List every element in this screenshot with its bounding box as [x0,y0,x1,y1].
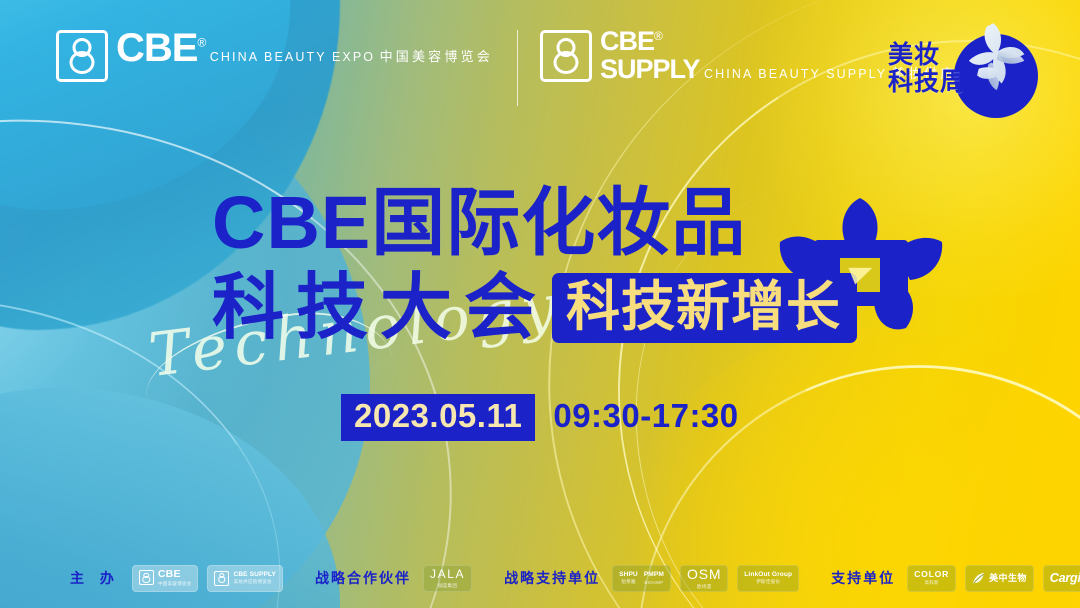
cbe-supply-subtitle-en: CHINA BEAUTY SUPPLY [704,67,887,81]
sponsor-chip-cbe: CBE 中国美容博览会 [132,565,199,592]
sponsor-sub-jala: 伽蓝集团 [438,583,457,589]
sponsor-name-cargill: Cargill [1050,571,1080,585]
sponsor-sub-shpu: 珀莱雅 [621,579,635,585]
sponsor-chip-cargill: Cargill [1043,565,1080,592]
cbe-logo-main-text: CBE [116,26,197,70]
footer-label-strategic-support: 战略支持单位 [504,568,600,588]
cbe-monogram-icon [214,571,229,586]
event-time: 09:30-17:30 [535,394,748,441]
cbe-monogram-icon [139,570,154,585]
footer-label-strategic-partner: 战略合作伙伴 [315,568,411,588]
sponsor-sub-cbe: 中国美容博览会 [158,582,192,587]
beauty-tech-week-badge: 美妆 科技周 [888,16,1044,124]
cbe-logo-subtitle-en: CHINA BEAUTY EXPO [210,50,375,64]
footer-label-organizer: 主 办 [70,568,120,588]
cbe-monogram-icon [56,30,108,82]
sponsor-chip-cbe-supply: CBE SUPPLY 美妆供应链博览会 [207,565,283,592]
cbe-supply-logo-line1: CBE [600,26,654,56]
header-logo-group: CBE® CHINA BEAUTY EXPO 中国美容博览会 CBE®SUPPL… [56,28,1021,106]
cbe-supply-monogram-icon [540,30,592,82]
cbe-logo: CBE® CHINA BEAUTY EXPO 中国美容博览会 [56,28,493,82]
sponsor-name-shpu: SHPU [619,571,638,578]
sponsor-chip-osm: OSM 欧诗漫 [680,565,728,592]
title-slogan-badge: 科技新增长 [552,273,857,343]
sponsor-name-meizhong: 美中生物 [989,574,1027,583]
sponsor-sub-group: 伊斯佳股份 [756,579,780,585]
week-badge-line2: 科技 [888,68,940,96]
cbe-supply-logo-wordmark: CBE®SUPPLY [600,26,700,84]
leaf-icon [972,572,985,585]
sponsor-name-jala: JALA [430,567,465,581]
cbe-conference-banner: CBE® CHINA BEAUTY EXPO 中国美容博览会 CBE®SUPPL… [0,0,1080,608]
cbe-logo-wordmark: CBE® [116,26,205,70]
week-badge-accent: 周 [940,68,966,96]
sponsor-name-group: LinkOut Group [744,571,792,578]
sponsor-chip-jala: JALA 伽蓝集团 [423,565,472,592]
registered-mark-icon: ® [197,36,205,50]
footer-label-support-unit: 支持单位 [831,568,895,588]
sponsor-sub-cbe-supply: 美妆供应链博览会 [233,580,276,585]
sponsor-chip-meizhong: 美中生物 [965,565,1034,592]
event-datetime: 2023.05.11 09:30-17:30 [341,394,749,441]
blue-circle-petal-icon [954,20,1036,108]
sponsor-chip-shpu-pmpm: SHPU 珀莱雅 PMPM BIOAMP [612,565,671,592]
event-date: 2023.05.11 [341,394,535,441]
title-line-2-text: 科技大会 [212,272,548,344]
main-title-block: CBE国际化妆品 科技大会 科技新增长 [212,186,857,344]
sponsor-chip-color: COLOR 高科新 [907,565,956,592]
title-slogan-text: 科技新增长 [566,277,841,337]
sponsor-name-cbe-supply: CBE SUPPLY [233,571,276,578]
registered-mark-icon: ® [654,29,662,43]
sponsor-name-osm: OSM [687,566,721,582]
title-line-1: CBE国际化妆品 [212,186,857,260]
cbe-supply-logo-line2: SUPPLY [600,54,700,84]
sponsor-name-cbe: CBE [158,569,192,580]
title-line-2: 科技大会 科技新增长 [212,272,857,344]
sponsor-name-color: COLOR [914,570,949,579]
week-badge-text: 美妆 科技周 [888,42,966,96]
sponsor-sub-pmpm: BIOAMP [644,580,663,585]
sponsor-chip-group: LinkOut Group 伊斯佳股份 [737,565,799,592]
week-badge-line1: 美妆 [888,41,940,69]
logo-divider [517,30,518,106]
cbe-logo-subtitle-cn: 中国美容博览会 [380,49,493,64]
sponsor-footer: 主 办 CBE 中国美容博览会 CBE SUPPLY 美妆供应链博览会 战略合作… [0,558,1080,598]
sponsor-sub-osm: 欧诗漫 [697,584,711,590]
sponsor-name-pmpm: PMPM [644,571,664,578]
sponsor-sub-color: 高科新 [924,580,938,586]
